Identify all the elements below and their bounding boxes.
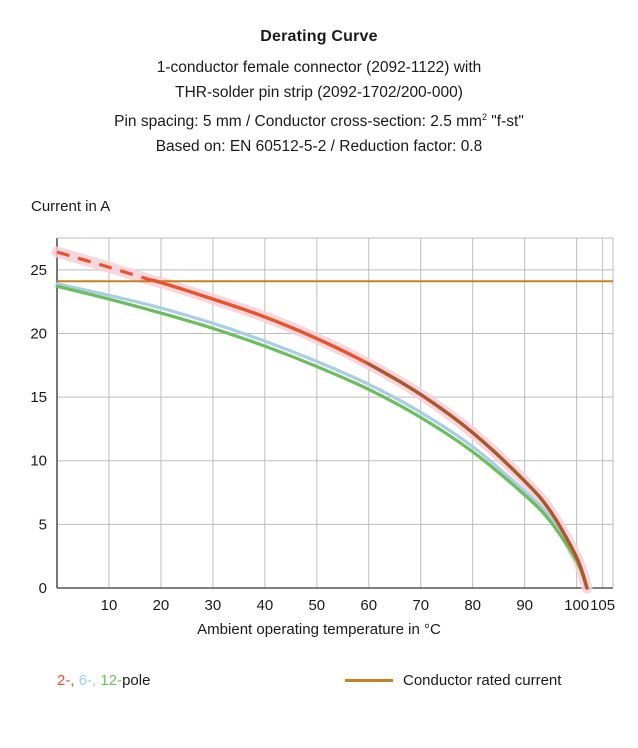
svg-text:25: 25 <box>30 262 47 279</box>
svg-text:15: 15 <box>30 389 47 406</box>
svg-text:80: 80 <box>464 597 481 614</box>
svg-text:5: 5 <box>39 516 47 533</box>
title-line-3: Pin spacing: 5 mm / Conductor cross-sect… <box>0 105 638 134</box>
svg-text:40: 40 <box>257 597 274 614</box>
legend-2-pole: 2-, <box>57 672 75 689</box>
svg-text:105: 105 <box>590 597 615 614</box>
svg-text:10: 10 <box>30 453 47 470</box>
legend-rated-label: Conductor rated current <box>403 672 561 689</box>
legend-pole-suffix: pole <box>122 672 150 689</box>
chart-title-block: Derating Curve 1-conductor female connec… <box>0 0 638 159</box>
page-title: Derating Curve <box>0 28 638 46</box>
legend-6-pole: 6-, <box>79 672 97 689</box>
svg-text:20: 20 <box>153 597 170 614</box>
svg-text:50: 50 <box>308 597 325 614</box>
y-axis-label: Current in A <box>31 198 110 215</box>
legend-12-pole: 12- <box>100 672 122 689</box>
svg-text:30: 30 <box>205 597 222 614</box>
legend-series-text: 2-, 6-, 12-pole <box>57 672 150 689</box>
x-axis-label: Ambient operating temperature in °C <box>0 621 638 638</box>
rated-current-line-icon <box>345 679 393 682</box>
svg-text:90: 90 <box>516 597 533 614</box>
title-line-4: Based on: EN 60512-5-2 / Reduction facto… <box>0 134 638 159</box>
svg-text:20: 20 <box>30 325 47 342</box>
title-line-2: THR-solder pin strip (2092-1702/200-000) <box>0 80 638 105</box>
svg-text:60: 60 <box>360 597 377 614</box>
chart-legend: 2-, 6-, 12-pole Conductor rated current <box>0 672 638 696</box>
legend-rated-current: Conductor rated current <box>345 672 561 689</box>
svg-text:10: 10 <box>101 597 118 614</box>
svg-text:100: 100 <box>564 597 589 614</box>
svg-text:0: 0 <box>39 580 47 597</box>
svg-text:70: 70 <box>412 597 429 614</box>
title-line-1: 1-conductor female connector (2092-1122)… <box>0 55 638 80</box>
